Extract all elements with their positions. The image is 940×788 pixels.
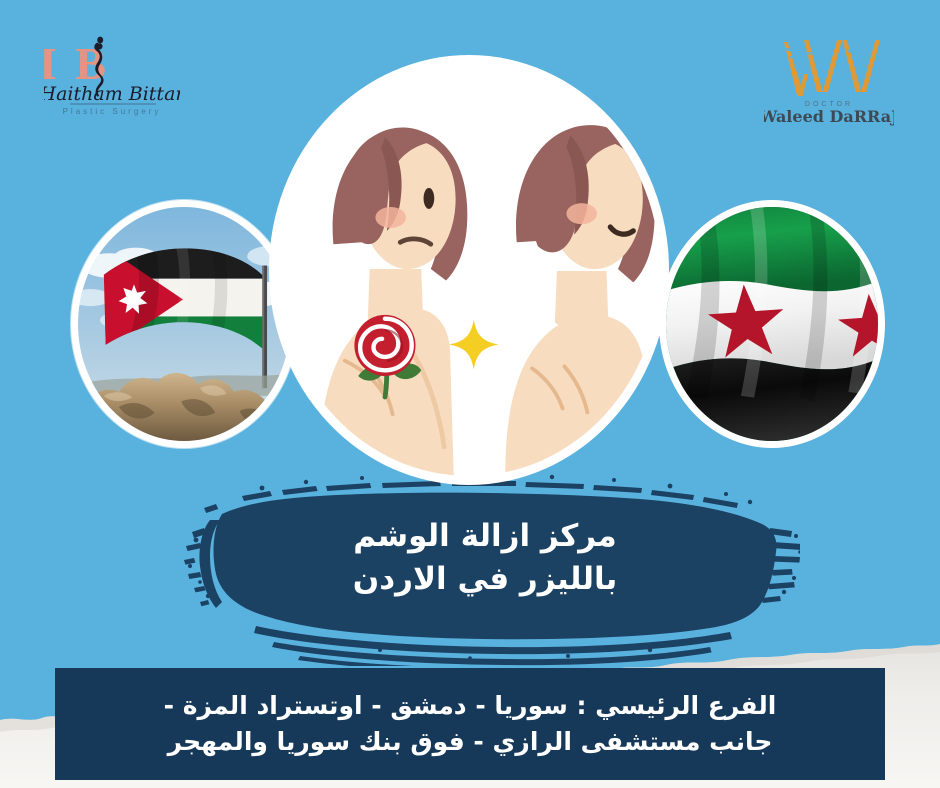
tattoo-removal-illustration (269, 55, 669, 485)
syria-flag-photo (659, 200, 885, 448)
address-line-1: الفرع الرئيسي : سوريا - دمشق - اوتستراد … (164, 689, 777, 724)
blush (566, 203, 597, 224)
poster-canvas: H B Haitham Bittar Plastic Surgery (0, 0, 940, 788)
logo-subtitle: Plastic Surgery (63, 107, 162, 116)
haitham-bittar-logo: H B Haitham Bittar Plastic Surgery (44, 34, 180, 122)
logo-monogram-h: H (44, 38, 56, 89)
address-line-2: جانب مستشفى الرازي - فوق بنك سوريا والمه… (168, 725, 773, 760)
blush (375, 207, 406, 228)
waleed-darraj-logo: DOCTOR Waleed DaRRaJ (764, 30, 894, 126)
address-bar: الفرع الرئيسي : سوريا - دمشق - اوتستراد … (55, 668, 885, 780)
w-monogram-icon (784, 40, 880, 96)
jordan-flag-photo (71, 200, 297, 448)
eye (424, 188, 435, 209)
logo-doctor-name: Waleed DaRRaJ (764, 107, 894, 126)
brush-stroke-banner (170, 466, 800, 666)
logo-script-name: Haitham Bittar (44, 83, 180, 105)
